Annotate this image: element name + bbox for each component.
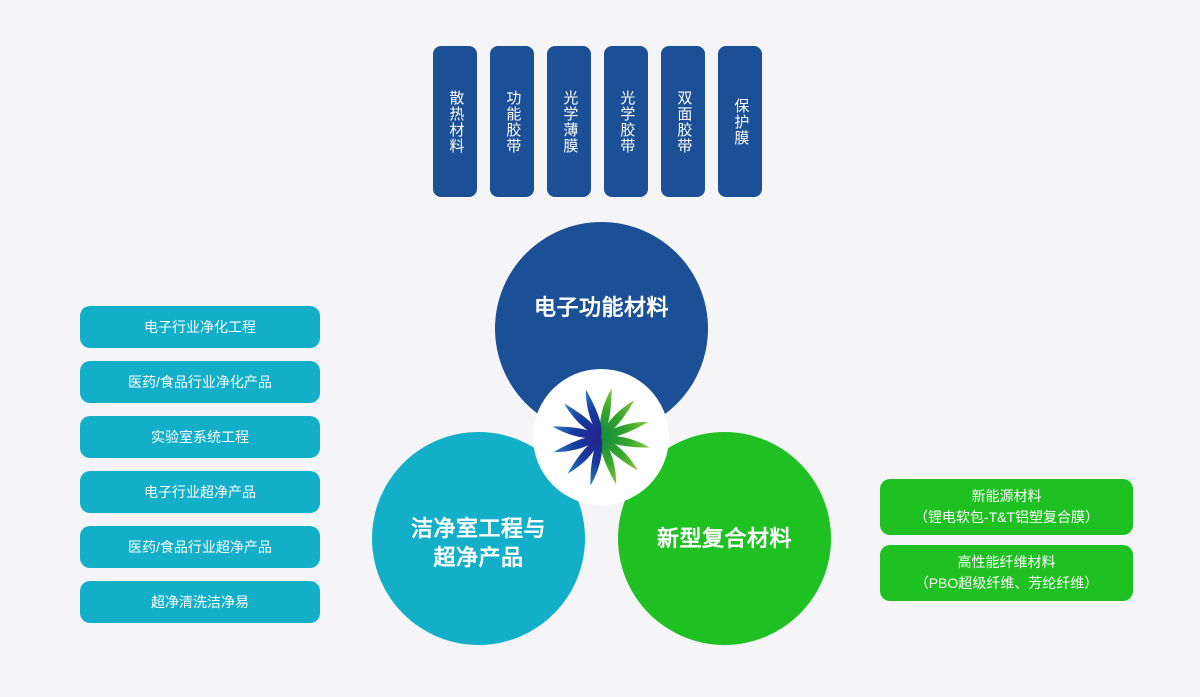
list-item[interactable]: 电子行业净化工程 — [80, 306, 320, 348]
top-product-bar[interactable]: 光学胶带 — [604, 46, 648, 197]
list-item[interactable]: 超净清洗洁净易 — [80, 581, 320, 623]
top-product-bar-label: 保护膜 — [731, 98, 750, 146]
pinwheel-flower-logo-icon — [542, 378, 660, 496]
list-item-title: 高性能纤维材料 — [958, 552, 1056, 573]
list-item-subtitle: （PBO超级纤维、芳纶纤维） — [915, 573, 1099, 594]
list-item[interactable]: 实验室系统工程 — [80, 416, 320, 458]
top-product-bar-label: 双面胶带 — [674, 90, 693, 154]
list-item[interactable]: 新能源材料 （锂电软包-T&T铝塑复合膜） — [880, 479, 1133, 535]
top-product-bar-label: 光学薄膜 — [560, 90, 579, 154]
top-product-bar[interactable]: 光学薄膜 — [547, 46, 591, 197]
list-item-label: 超净清洗洁净易 — [151, 592, 249, 612]
list-item-label: 电子行业净化工程 — [144, 317, 256, 337]
venn-circle-label: 新型复合材料 — [657, 525, 792, 554]
venn-circle-label: 洁净室工程与 超净产品 — [411, 515, 546, 572]
list-item[interactable]: 电子行业超净产品 — [80, 471, 320, 513]
venn-circle-label: 电子功能材料 — [534, 294, 669, 323]
list-item-label: 电子行业超净产品 — [144, 482, 256, 502]
list-item[interactable]: 医药/食品行业超净产品 — [80, 526, 320, 568]
list-item-title: 新能源材料 — [972, 486, 1042, 507]
left-category-list: 电子行业净化工程 医药/食品行业净化产品 实验室系统工程 电子行业超净产品 医药… — [80, 306, 320, 623]
list-item-label: 医药/食品行业净化产品 — [128, 372, 272, 392]
center-logo-disc — [533, 369, 669, 505]
top-product-bar-group: 散热材料 功能胶带 光学薄膜 光学胶带 双面胶带 保护膜 — [433, 46, 762, 197]
top-product-bar-label: 功能胶带 — [503, 90, 522, 154]
list-item[interactable]: 高性能纤维材料 （PBO超级纤维、芳纶纤维） — [880, 545, 1133, 601]
diagram-canvas: 散热材料 功能胶带 光学薄膜 光学胶带 双面胶带 保护膜 电子行业净化工程 医药… — [0, 0, 1200, 697]
top-product-bar-label: 光学胶带 — [617, 90, 636, 154]
top-product-bar-label: 散热材料 — [446, 90, 465, 154]
top-product-bar[interactable]: 保护膜 — [718, 46, 762, 197]
top-product-bar[interactable]: 散热材料 — [433, 46, 477, 197]
list-item-label: 医药/食品行业超净产品 — [128, 537, 272, 557]
top-product-bar[interactable]: 功能胶带 — [490, 46, 534, 197]
list-item-label: 实验室系统工程 — [151, 427, 249, 447]
list-item-subtitle: （锂电软包-T&T铝塑复合膜） — [914, 507, 1099, 528]
right-category-list: 新能源材料 （锂电软包-T&T铝塑复合膜） 高性能纤维材料 （PBO超级纤维、芳… — [880, 479, 1133, 601]
top-product-bar[interactable]: 双面胶带 — [661, 46, 705, 197]
list-item[interactable]: 医药/食品行业净化产品 — [80, 361, 320, 403]
